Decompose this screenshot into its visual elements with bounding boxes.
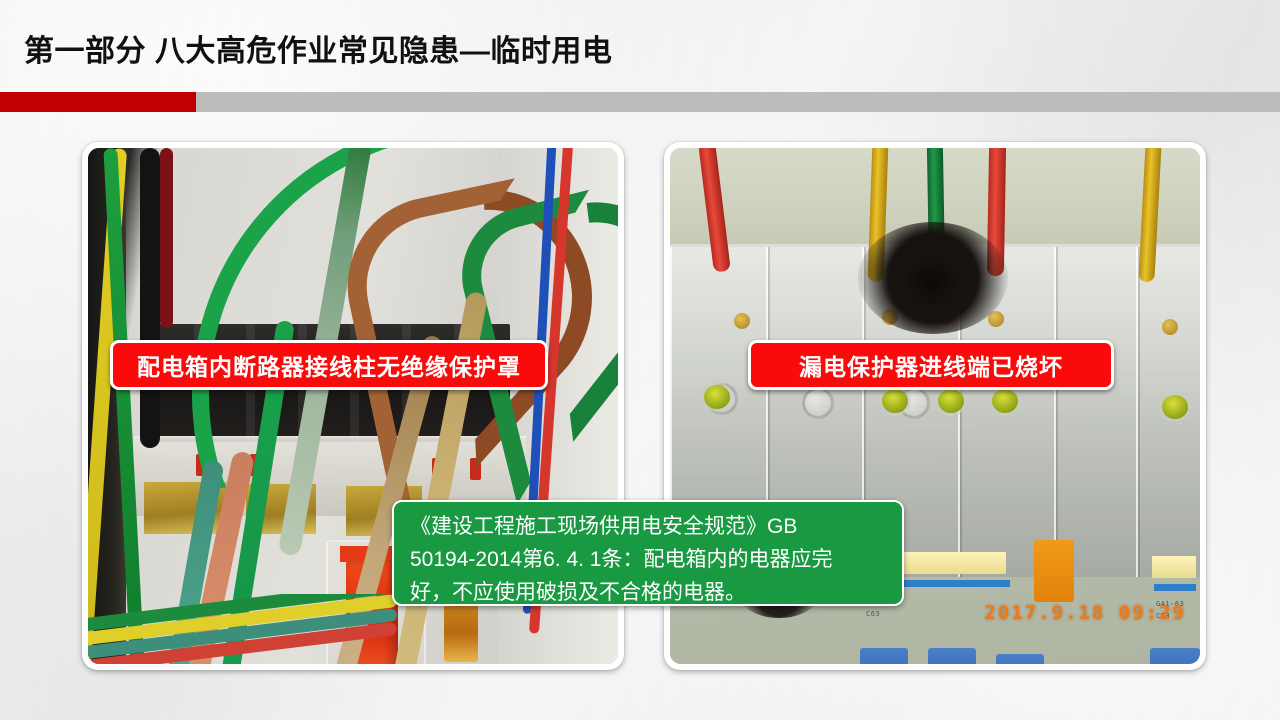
right-photo-orange-tab [1034, 540, 1074, 602]
regulation-line-2: 50194-2014第6. 4. 1条：配电箱内的电器应完 [410, 543, 888, 576]
caption-banner-left: 配电箱内断路器接线柱无绝缘保护罩 [110, 340, 548, 390]
right-photo-burn-core [882, 244, 982, 320]
header-divider [0, 92, 1280, 112]
left-photo-wire-black [140, 148, 160, 448]
regulation-line-1: 《建设工程施工现场供用电安全规范》GB [410, 510, 888, 543]
photo-timestamp: 2017.9.18 09:29 [984, 602, 1186, 624]
regulation-line-3: 好，不应使用破损及不合格的电器。 [410, 576, 888, 609]
caption-banner-right: 漏电保护器进线端已烧坏 [748, 340, 1114, 390]
right-photo-module-label: C63 [866, 610, 880, 618]
left-photo-wire-darkred [160, 148, 173, 328]
divider-red-bar [0, 92, 196, 112]
regulation-callout: 《建设工程施工现场供用电安全规范》GB 50194-2014第6. 4. 1条：… [392, 500, 904, 606]
page-title: 第一部分 八大高危作业常见隐患—临时用电 [24, 26, 612, 70]
slide-canvas: 第一部分 八大高危作业常见隐患—临时用电 [0, 0, 1280, 720]
